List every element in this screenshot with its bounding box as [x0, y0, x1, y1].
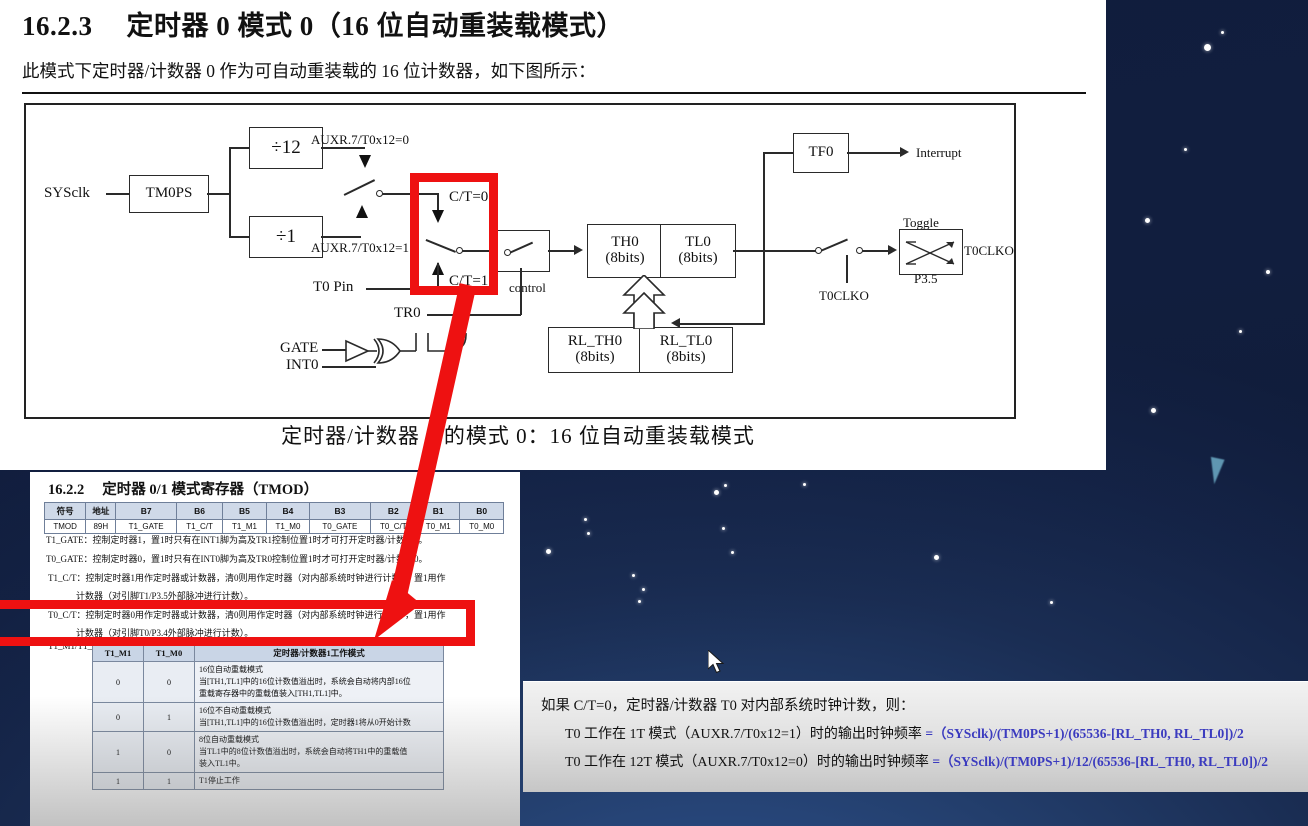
- table-row: 1 0 8位自动重载模式 当TL1中的8位计数值溢出时，系统会自动将TH1中的重…: [93, 732, 444, 773]
- select-arrow-up: [356, 205, 368, 218]
- diagram-label-p35: P3.5: [914, 271, 937, 287]
- t0x12-switch-blade: [344, 179, 375, 195]
- wire: [466, 314, 521, 316]
- col-header: B6: [176, 503, 222, 520]
- rl-tl0-bits: (8bits): [666, 350, 705, 366]
- diagram-label-control: control: [509, 280, 546, 296]
- t0clko-switch-left-pole: [815, 247, 822, 254]
- col-header: B1: [417, 503, 460, 520]
- rl-th0-block: RL_TH0 (8bits): [548, 327, 642, 373]
- cell: T0_M0: [460, 520, 504, 534]
- formula-12t-expression: =（SYSclk)/(TM0PS+1)/12/(65536-[RL_TH0, R…: [932, 754, 1268, 769]
- formula-intro: 如果 C/T=0，定时器/计数器 T0 对内部系统时钟计数，则：: [541, 694, 915, 715]
- rl-th0-label: RL_TH0: [568, 334, 622, 350]
- cell: T0_C/T: [370, 520, 416, 534]
- bottom-section-number: 16.2.2: [48, 482, 84, 498]
- formula-1t-text: T0 工作在 1T 模式（AUXR.7/T0x12=1）时的输出时钟频率: [565, 727, 922, 742]
- diagram-label-interrupt: Interrupt: [916, 145, 961, 161]
- cell: T0_M1: [417, 520, 460, 534]
- table-row: TMOD 89H T1_GATE T1_C/T T1_M1 T1_M0 T0_G…: [45, 520, 504, 534]
- slide-bottom-page: 16.2.2定时器 0/1 模式寄存器（TMOD） 符号 地址 B7 B6 B5…: [30, 472, 520, 826]
- timer1-mode-table: T1_M1 T1_M0 定时器/计数器1工作模式 0 0 16位自动重载模式 当…: [92, 644, 444, 790]
- particle-dot: [1239, 330, 1242, 333]
- wire: [520, 268, 522, 315]
- cell-desc: 8位自动重载模式 当TL1中的8位计数值溢出时，系统会自动将TH1中的重载值 装…: [195, 732, 444, 773]
- select-arrow-down: [359, 155, 371, 168]
- particle-dot: [642, 588, 645, 591]
- bottom-section-title: 定时器 0/1 模式寄存器（TMOD）: [102, 482, 318, 498]
- wire: [229, 236, 249, 238]
- tl0-label: TL0: [685, 235, 711, 251]
- formula-line-1t: T0 工作在 1T 模式（AUXR.7/T0x12=1）时的输出时钟频率 =（S…: [565, 722, 1244, 743]
- diagram-label-auxr-t0x12-1: AUXR.7/T0x12=1: [311, 240, 409, 256]
- particle-dot: [546, 549, 551, 554]
- mode-line1: 当[TH1,TL1]中的16位计数值溢出时，定时器1将从0开始计数: [199, 717, 439, 729]
- diagram-label-gate: GATE: [280, 340, 318, 357]
- cell: T1_M0: [266, 520, 309, 534]
- particle-dot: [1145, 218, 1150, 223]
- cell-m1: 1: [93, 732, 144, 773]
- wire-arrow: [574, 245, 583, 255]
- highlight-box-ct-selector: [410, 173, 498, 295]
- cell-desc: 16位自动重载模式 当[TH1,TL1]中的16位计数值溢出时，系统会自动将内部…: [195, 662, 444, 703]
- col-header: B7: [116, 503, 176, 520]
- diagram-label-int0: INT0: [286, 357, 319, 374]
- cell: T1_C/T: [176, 520, 222, 534]
- cell-desc: 16位不自动重载模式 当[TH1,TL1]中的16位计数值溢出时，定时器1将从0…: [195, 703, 444, 732]
- particle-dot: [1266, 270, 1270, 274]
- diagram-label-t0clko-switch: T0CLKO: [819, 288, 869, 304]
- wire: [106, 193, 129, 195]
- th0-block: TH0 (8bits): [587, 224, 663, 278]
- intro-paragraph: 此模式下定时器/计数器 0 作为可自动重装载的 16 位计数器，如下图所示：: [22, 58, 596, 83]
- particle-dot: [1184, 148, 1187, 151]
- wire: [763, 152, 793, 154]
- formula-line-12t: T0 工作在 12T 模式（AUXR.7/T0x12=0）时的输出时钟频率 =（…: [565, 750, 1268, 771]
- diagram-caption: 定时器/计数器 0 的模式 0：16 位自动重装载模式: [24, 420, 1012, 450]
- table-row: 0 1 16位不自动重载模式 当[TH1,TL1]中的16位计数值溢出时，定时器…: [93, 703, 444, 732]
- cell-m0: 1: [144, 703, 195, 732]
- col-header: B4: [266, 503, 309, 520]
- particle-dot: [1050, 601, 1053, 604]
- wire: [322, 349, 346, 351]
- tl0-block: TL0 (8bits): [660, 224, 736, 278]
- cursor-arrow-icon: [708, 650, 728, 676]
- tl0-bits: (8bits): [678, 251, 717, 267]
- particle-dot: [724, 484, 727, 487]
- mode-title: T1停止工作: [199, 775, 439, 787]
- wire: [229, 147, 231, 237]
- particle-dot: [1204, 44, 1211, 51]
- col-header: 定时器/计数器1工作模式: [195, 645, 444, 662]
- cell: T1_GATE: [116, 520, 176, 534]
- desc-t1-gate: T1_GATE：控制定时器1，置1时只有在INT1脚为高及TR1控制位置1时才可…: [46, 535, 428, 546]
- tmod-register-table: 符号 地址 B7 B6 B5 B4 B3 B2 B1 B0 TMOD 89H T…: [44, 502, 504, 534]
- th0-bits: (8bits): [605, 251, 644, 267]
- cell-m0: 0: [144, 732, 195, 773]
- mode-line2: 重载寄存器中的重载值装入[TH1,TL1]中。: [199, 688, 439, 700]
- col-header: B5: [223, 503, 266, 520]
- particle-dot: [731, 551, 734, 554]
- toggle-block: [899, 229, 963, 275]
- desc-t1-ct: T1_C/T：控制定时器1用作定时器或计数器，清0则用作定时器（对内部系统时钟进…: [48, 573, 446, 584]
- diagram-label-auxr-t0x12-0: AUXR.7/T0x12=0: [311, 132, 409, 148]
- mode-line2: 装入TL1中。: [199, 758, 439, 770]
- title-divider: [22, 92, 1086, 94]
- reload-feedback-arrow: [671, 318, 680, 328]
- wire: [763, 152, 765, 250]
- col-header: B3: [310, 503, 370, 520]
- diagram-label-tr0: TR0: [394, 305, 421, 322]
- particle-dot: [587, 532, 590, 535]
- mode-title: 16位自动重载模式: [199, 664, 439, 676]
- col-header: T1_M0: [144, 645, 195, 662]
- table-header-row: 符号 地址 B7 B6 B5 B4 B3 B2 B1 B0: [45, 503, 504, 520]
- cell-m1: 0: [93, 662, 144, 703]
- cell-m1: 0: [93, 703, 144, 732]
- rl-tl0-block: RL_TL0 (8bits): [639, 327, 733, 373]
- col-header: T1_M1: [93, 645, 144, 662]
- mode-line1: 当[TH1,TL1]中的16位计数值溢出时，系统会自动将内部16位: [199, 676, 439, 688]
- diagram-label-t0-pin: T0 Pin: [313, 279, 353, 296]
- desc-t0-gate: T0_GATE：控制定时器0，置1时只有在INT0脚为高及TR0控制位置1时才可…: [46, 554, 428, 565]
- diagram-label-sysclk: SYSclk: [44, 185, 90, 202]
- particle-dot: [638, 600, 641, 603]
- particle-dot: [632, 574, 635, 577]
- col-header: 符号: [45, 503, 86, 520]
- col-header: B0: [460, 503, 504, 520]
- wire: [207, 193, 229, 195]
- table-header-row: T1_M1 T1_M0 定时器/计数器1工作模式: [93, 645, 444, 662]
- bottom-page-title: 16.2.2定时器 0/1 模式寄存器（TMOD）: [48, 478, 318, 499]
- cell: TMOD: [45, 520, 86, 534]
- t0clko-switch-blade: [818, 239, 848, 253]
- cell-desc: T1停止工作: [195, 773, 444, 790]
- particle-dot: [934, 555, 939, 560]
- mode-title: 16位不自动重载模式: [199, 705, 439, 717]
- logic-gates: [344, 333, 484, 393]
- page-title: 16.2.3定时器 0 模式 0（16 位自动重装载模式）: [22, 4, 624, 43]
- cell-m0: 1: [144, 773, 195, 790]
- formula-callout: 如果 C/T=0，定时器/计数器 T0 对内部系统时钟计数，则： T0 工作在 …: [523, 681, 1308, 792]
- wire: [677, 323, 765, 325]
- timer0-block-diagram: SYSclk TM0PS ÷12 ÷1 AUXR.7/T0x12=0 AUXR.…: [24, 103, 1016, 419]
- formula-12t-text: T0 工作在 12T 模式（AUXR.7/T0x12=0）时的输出时钟频率: [565, 755, 929, 770]
- cell-m0: 0: [144, 662, 195, 703]
- wire: [763, 250, 818, 252]
- wire: [321, 236, 361, 238]
- cell-m1: 1: [93, 773, 144, 790]
- tm0ps-block: TM0PS: [129, 175, 209, 213]
- cell: T1_M1: [223, 520, 266, 534]
- particle-dot: [584, 518, 587, 521]
- particle-dot: [714, 490, 719, 495]
- cell: 89H: [86, 520, 116, 534]
- th0-label: TH0: [611, 235, 639, 251]
- col-header: B2: [370, 503, 416, 520]
- table-row: 1 1 T1停止工作: [93, 773, 444, 790]
- diagram-label-t0clko-out: T0CLKO: [964, 243, 1014, 259]
- wire: [229, 147, 249, 149]
- tf0-block: TF0: [793, 133, 849, 173]
- mode-line1: 当TL1中的8位计数值溢出时，系统会自动将TH1中的重载值: [199, 746, 439, 758]
- formula-1t-expression: =（SYSclk)/(TM0PS+1)/(65536-[RL_TH0, RL_T…: [925, 726, 1243, 741]
- wire: [847, 152, 905, 154]
- t0clko-control-stem: [846, 255, 848, 283]
- control-switch-pole: [504, 249, 511, 256]
- col-header: 地址: [86, 503, 116, 520]
- interrupt-arrow: [900, 147, 909, 157]
- particle-dot: [722, 527, 725, 530]
- particle-dot: [803, 483, 806, 486]
- section-number: 16.2.3: [22, 11, 93, 41]
- table-row: 0 0 16位自动重载模式 当[TH1,TL1]中的16位计数值溢出时，系统会自…: [93, 662, 444, 703]
- mode-title: 8位自动重载模式: [199, 734, 439, 746]
- wire: [763, 250, 765, 324]
- slide-top-page: 16.2.3定时器 0 模式 0（16 位自动重装载模式） 此模式下定时器/计数…: [0, 0, 1106, 470]
- particle-dot: [1221, 31, 1224, 34]
- cell: T0_GATE: [310, 520, 370, 534]
- section-title: 定时器 0 模式 0（16 位自动重装载模式）: [127, 11, 625, 41]
- rl-th0-bits: (8bits): [575, 350, 614, 366]
- particle-dot: [1151, 408, 1156, 413]
- highlight-box-t0-ct-description: [0, 600, 475, 646]
- toggle-input-arrow: [888, 245, 897, 255]
- rl-tl0-label: RL_TL0: [660, 334, 713, 350]
- toggle-cross-icon: [902, 232, 960, 272]
